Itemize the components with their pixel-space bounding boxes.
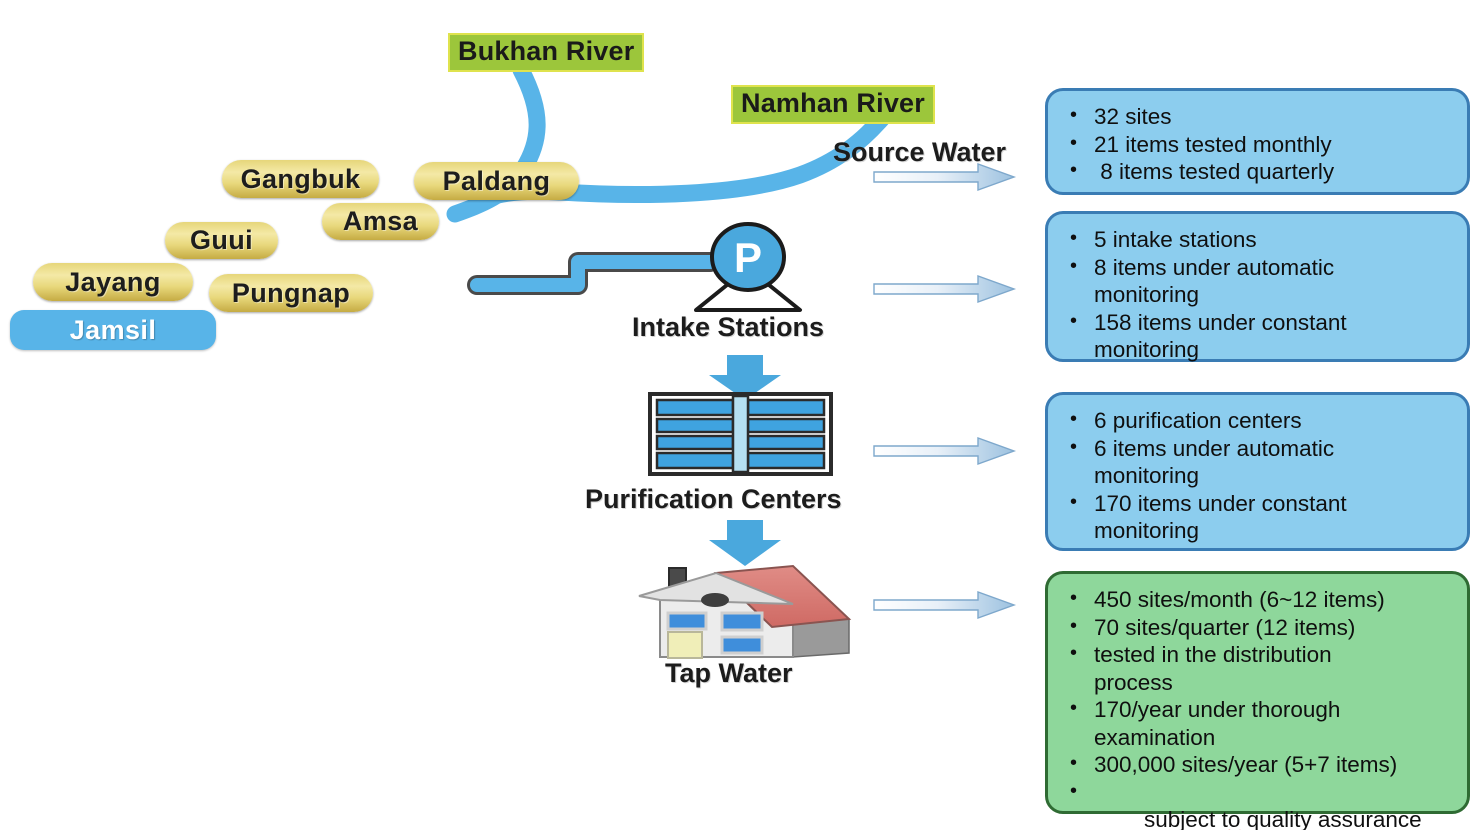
down-arrow-purification-to-tap — [709, 520, 781, 566]
list-item: tested in the distribution process — [1062, 641, 1453, 696]
info-list-purification-centers: 6 purification centers 6 items under aut… — [1062, 407, 1453, 545]
river-label-namhan: Namhan River — [731, 85, 935, 124]
svg-text:P: P — [734, 234, 762, 281]
stage-caption-purification-centers: Purification Centers — [585, 484, 842, 515]
river-label-bukhan: Bukhan River — [448, 33, 644, 72]
list-item: 21 items tested monthly — [1062, 131, 1453, 159]
pump-station-icon: P — [477, 224, 800, 310]
info-panel-tap-water: 450 sites/month (6~12 items) 70 sites/qu… — [1045, 571, 1470, 814]
station-pill-amsa[interactable]: Amsa — [322, 203, 439, 240]
list-item-spellcheck: subject to quality assurance — [1062, 779, 1453, 830]
info-panel-purification-centers: 6 purification centers 6 items under aut… — [1045, 392, 1470, 551]
flow-arrow-intake-stations — [874, 276, 1014, 302]
list-item: 70 sites/quarter (12 items) — [1062, 614, 1453, 642]
list-item: 32 sites — [1062, 103, 1453, 131]
diagram-canvas: P — [0, 0, 1482, 830]
list-item-text-prefix: subject — [1144, 807, 1222, 830]
list-item: 8 items under automatic monitoring — [1062, 254, 1453, 309]
list-item: 450 sites/month (6~12 items) — [1062, 586, 1453, 614]
station-pill-paldang[interactable]: Paldang — [414, 162, 579, 200]
stage-caption-intake-stations: Intake Stations — [632, 312, 824, 343]
list-item: 6 purification centers — [1062, 407, 1453, 435]
stage-caption-source-water: Source Water — [833, 137, 1006, 168]
list-item-text-suffix: quality assurance — [1240, 807, 1421, 830]
house-icon — [639, 566, 849, 658]
list-item: 8 items tested quarterly — [1062, 158, 1453, 186]
stage-caption-tap-water: Tap Water — [665, 658, 793, 689]
list-item: 5 intake stations — [1062, 226, 1453, 254]
down-arrow-intake-to-purification — [709, 355, 781, 400]
info-list-tap-water: 450 sites/month (6~12 items) 70 sites/qu… — [1062, 586, 1453, 830]
list-item: 170 items under constant monitoring — [1062, 490, 1453, 545]
info-panel-intake-stations: 5 intake stations 8 items under automati… — [1045, 211, 1470, 362]
flow-arrow-tap-water — [874, 592, 1014, 618]
station-pill-jamsil[interactable]: Jamsil — [10, 310, 216, 350]
station-pill-guui[interactable]: Guui — [165, 222, 278, 259]
station-pill-gangbuk[interactable]: Gangbuk — [222, 160, 379, 198]
purification-basin-icon — [650, 394, 831, 474]
info-list-intake-stations: 5 intake stations 8 items under automati… — [1062, 226, 1453, 364]
flow-arrow-purification-centers — [874, 438, 1014, 464]
list-item: 158 items under constant monitoring — [1062, 309, 1453, 364]
spellcheck-word: to — [1222, 807, 1241, 830]
station-pill-jayang[interactable]: Jayang — [33, 263, 193, 301]
station-pill-pungnap[interactable]: Pungnap — [209, 274, 373, 312]
list-item: 300,000 sites/year (5+7 items) — [1062, 751, 1453, 779]
info-list-source-water: 32 sites 21 items tested monthly 8 items… — [1062, 103, 1453, 186]
list-item: 170/year under thorough examination — [1062, 696, 1453, 751]
info-panel-source-water: 32 sites 21 items tested monthly 8 items… — [1045, 88, 1470, 195]
list-item: 6 items under automatic monitoring — [1062, 435, 1453, 490]
